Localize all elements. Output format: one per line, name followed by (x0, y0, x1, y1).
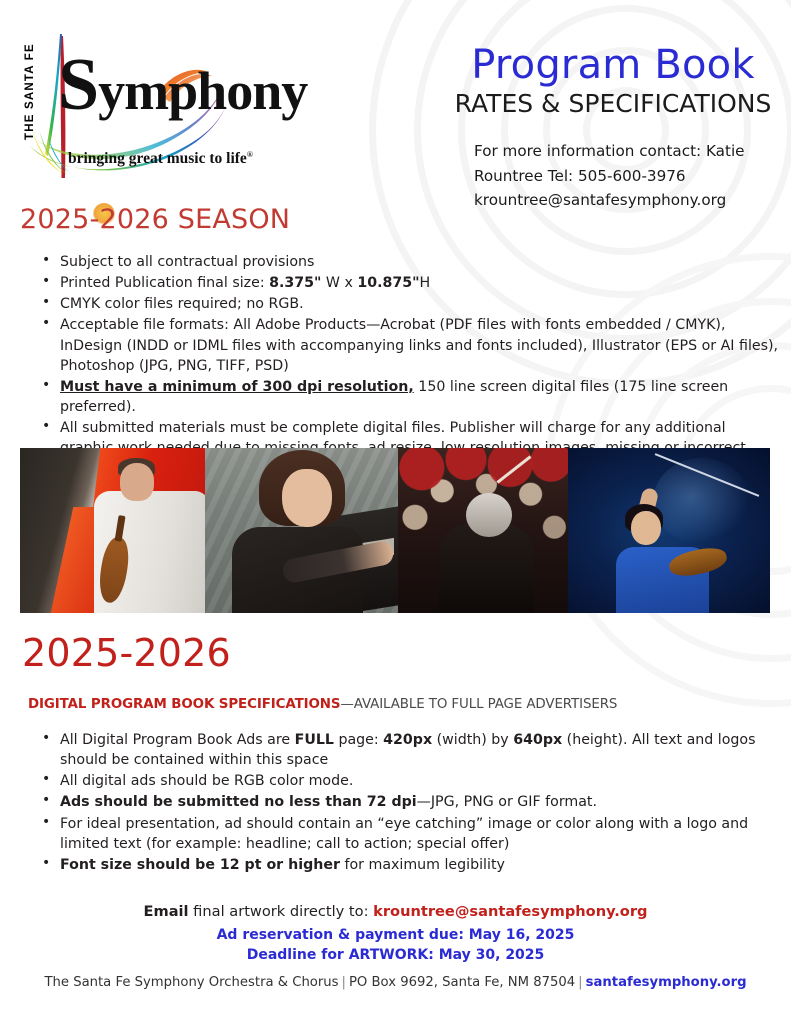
photo-pianist (205, 448, 398, 613)
spec-text-segment: Ads should be submitted no less than 72 … (60, 794, 417, 810)
spec-text-segment: CMYK color files required; no RGB. (60, 296, 304, 312)
spec-list-item: Subject to all contractual provisions (40, 252, 780, 272)
email-label: Email (144, 903, 189, 920)
logo-vertical-text: THE SANTA FE (24, 40, 36, 140)
logo-wordmark-rest: ymphony (98, 61, 307, 121)
season-heading-text: 2025-2026 SEASON (20, 204, 290, 235)
digital-specifications-list: All Digital Program Book Ads are FULL pa… (20, 730, 770, 876)
page-title-block: Program Book RATES & SPECIFICATIONS For … (448, 44, 778, 212)
spec-list-item: For ideal presentation, ad should contai… (40, 814, 770, 854)
spec-text-segment: Must have a minimum of 300 dpi resolutio… (60, 379, 414, 395)
photo-violinist-blue (568, 448, 770, 613)
spec-list-item: Acceptable file formats: All Adobe Produ… (40, 315, 780, 375)
spec-text-segment: FULL (295, 732, 334, 748)
deadline-block: Ad reservation & payment due: May 16, 20… (0, 926, 791, 966)
page-title: Program Book (448, 44, 778, 87)
logo-wordmark-initial: S (58, 44, 98, 126)
spec-text-segment: 10.875" (357, 275, 419, 291)
reservation-deadline: Ad reservation & payment due: May 16, 20… (0, 926, 791, 946)
spec-list-item: All Digital Program Book Ads are FULL pa… (40, 730, 770, 770)
spec-text-segment: For ideal presentation, ad should contai… (60, 816, 748, 852)
spec-list-item: Font size should be 12 pt or higher for … (40, 855, 770, 875)
digital-specs-heading: DIGITAL PROGRAM BOOK SPECIFICATIONS—AVAI… (28, 697, 617, 712)
spec-list-item: Must have a minimum of 300 dpi resolutio… (40, 377, 780, 417)
artist-photo-strip (20, 448, 770, 613)
footer-org-name: The Santa Fe Symphony Orchestra & Chorus (44, 975, 338, 990)
email-address-link[interactable]: krountree@santafesymphony.org (373, 903, 647, 920)
spec-text-segment: (width) by (432, 732, 513, 748)
spec-text-segment: All Digital Program Book Ads are (60, 732, 295, 748)
program-book-rate-sheet: THE SANTA FE Symphony bringing great mus… (0, 0, 791, 1024)
email-instruction-line: Email final artwork directly to: krountr… (0, 903, 791, 920)
logo-tagline-registered-mark: ® (247, 150, 253, 159)
spec-text-segment: Acceptable file formats: All Adobe Produ… (60, 317, 778, 373)
email-instruction-text: final artwork directly to: (189, 903, 374, 920)
logo-tagline: bringing great music to life® (68, 150, 253, 168)
spec-list-item: CMYK color files required; no RGB. (40, 294, 780, 314)
page-footer: The Santa Fe Symphony Orchestra & Chorus… (0, 975, 791, 990)
spec-text-segment: All digital ads should be RGB color mode… (60, 773, 353, 789)
spec-text-segment: 420px (383, 732, 432, 748)
season-heading: 2025-2026 SEASON (20, 204, 290, 235)
spec-list-item: Ads should be submitted no less than 72 … (40, 792, 770, 812)
contact-email[interactable]: krountree@santafesymphony.org (474, 188, 778, 212)
contact-line-2: Rountree Tel: 505-600-3976 (474, 164, 778, 188)
spec-text-segment: W x (321, 275, 357, 291)
spec-text-segment: 640px (513, 732, 562, 748)
season-year-heading: 2025-2026 (22, 631, 231, 675)
logo-wordmark: Symphony (58, 48, 307, 122)
spec-text-segment: 8.375" (269, 275, 321, 291)
spec-list-item: All digital ads should be RGB color mode… (40, 771, 770, 791)
digital-specs-heading-red: DIGITAL PROGRAM BOOK SPECIFICATIONS (28, 697, 340, 712)
spec-text-segment: H (420, 275, 431, 291)
spec-text-segment: page: (334, 732, 383, 748)
santa-fe-symphony-logo: THE SANTA FE Symphony bringing great mus… (18, 28, 253, 183)
footer-website-link[interactable]: santafesymphony.org (586, 975, 747, 990)
digital-specs-heading-grey: —AVAILABLE TO FULL PAGE ADVERTISERS (340, 697, 617, 712)
spec-text-segment: —JPG, PNG or GIF format. (417, 794, 597, 810)
footer-separator-1: | (339, 975, 349, 990)
artwork-deadline: Deadline for ARTWORK: May 30, 2025 (0, 946, 791, 966)
page-subtitle: RATES & SPECIFICATIONS (448, 89, 778, 118)
spec-text-segment: for maximum legibility (340, 857, 505, 873)
photo-conductor-chorus (398, 448, 568, 613)
footer-address: PO Box 9692, Santa Fe, NM 87504 (349, 975, 575, 990)
footer-separator-2: | (575, 975, 585, 990)
contact-info: For more information contact: Katie Roun… (448, 139, 778, 212)
spec-text-segment: Font size should be 12 pt or higher (60, 857, 340, 873)
photo-violinist-red (20, 448, 205, 613)
spec-text-segment: Printed Publication final size: (60, 275, 269, 291)
spec-list-item: Printed Publication final size: 8.375" W… (40, 273, 780, 293)
contact-line-1: For more information contact: Katie (474, 139, 778, 163)
spec-text-segment: Subject to all contractual provisions (60, 254, 314, 270)
